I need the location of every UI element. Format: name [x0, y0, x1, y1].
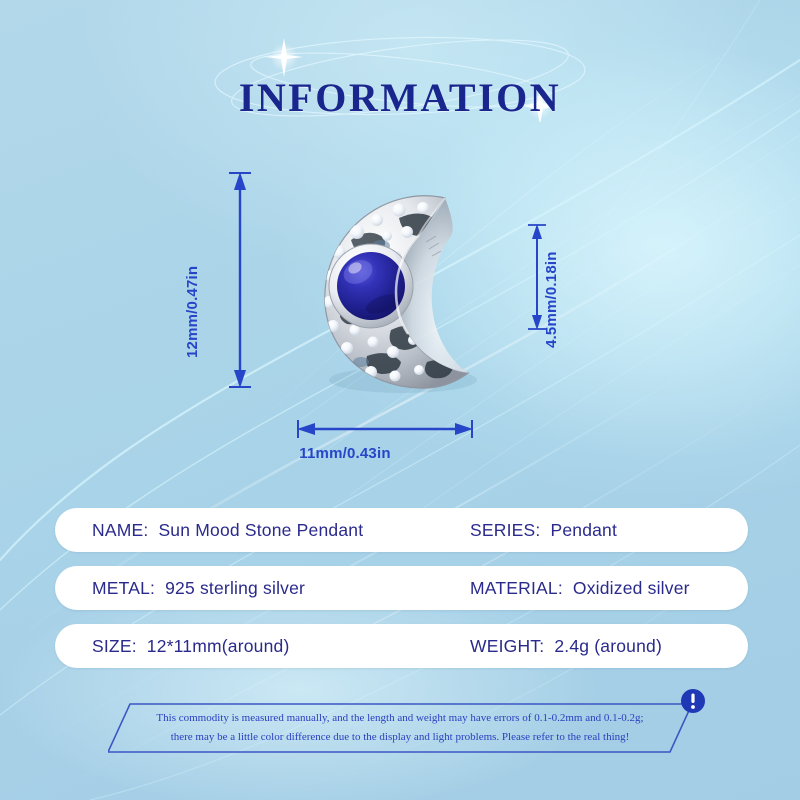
- spec-key: SERIES:: [470, 520, 540, 541]
- spec-cell-name: NAME: Sun Mood Stone Pendant: [92, 520, 363, 541]
- spec-value: Sun Mood Stone Pendant: [158, 520, 363, 541]
- spec-key: NAME:: [92, 520, 148, 541]
- disclaimer-text: This commodity is measured manually, and…: [108, 700, 692, 756]
- disclaimer-line-1: This commodity is measured manually, and…: [156, 709, 643, 728]
- spec-cell-weight: WEIGHT: 2.4g (around): [470, 636, 662, 657]
- height-dimension-arrow: [225, 170, 255, 390]
- spec-value: 12*11mm(around): [147, 636, 290, 657]
- page-header: INFORMATION: [0, 30, 800, 122]
- specification-list: NAME: Sun Mood Stone Pendant SERIES: Pen…: [55, 508, 748, 682]
- sparkle-star-icon: [265, 38, 303, 77]
- depth-dimension-label: 4.5mm/0.18in: [543, 251, 560, 348]
- crescent-moon-pendant-photo: [295, 180, 510, 395]
- exclamation-circle-icon: [680, 688, 706, 714]
- width-dimension-arrow: [295, 418, 475, 440]
- spec-cell-size: SIZE: 12*11mm(around): [92, 636, 290, 657]
- page-title: INFORMATION: [0, 78, 800, 118]
- spec-value: 2.4g (around): [554, 636, 662, 657]
- spec-key: WEIGHT:: [470, 636, 544, 657]
- spec-value: Oxidized silver: [573, 578, 690, 599]
- spec-key: SIZE:: [92, 636, 137, 657]
- spec-row: METAL: 925 sterling silver MATERIAL: Oxi…: [55, 566, 748, 610]
- product-showcase: 12mm/0.47in 4.5mm/0.18in 11mm/0.43in: [190, 170, 610, 470]
- height-dimension-label: 12mm/0.47in: [184, 266, 201, 358]
- spec-key: METAL:: [92, 578, 155, 599]
- spec-cell-series: SERIES: Pendant: [470, 520, 617, 541]
- disclaimer-banner: This commodity is measured manually, and…: [108, 700, 692, 756]
- product-information-page: INFORMATION: [0, 0, 800, 800]
- spec-cell-metal: METAL: 925 sterling silver: [92, 578, 305, 599]
- width-dimension-label: 11mm/0.43in: [299, 445, 390, 462]
- spec-cell-material: MATERIAL: Oxidized silver: [470, 578, 690, 599]
- spec-row: SIZE: 12*11mm(around) WEIGHT: 2.4g (arou…: [55, 624, 748, 668]
- disclaimer-line-2: there may be a little color difference d…: [171, 728, 630, 747]
- spec-key: MATERIAL:: [470, 578, 563, 599]
- spec-value: Pendant: [550, 520, 617, 541]
- spec-value: 925 sterling silver: [165, 578, 305, 599]
- spec-row: NAME: Sun Mood Stone Pendant SERIES: Pen…: [55, 508, 748, 552]
